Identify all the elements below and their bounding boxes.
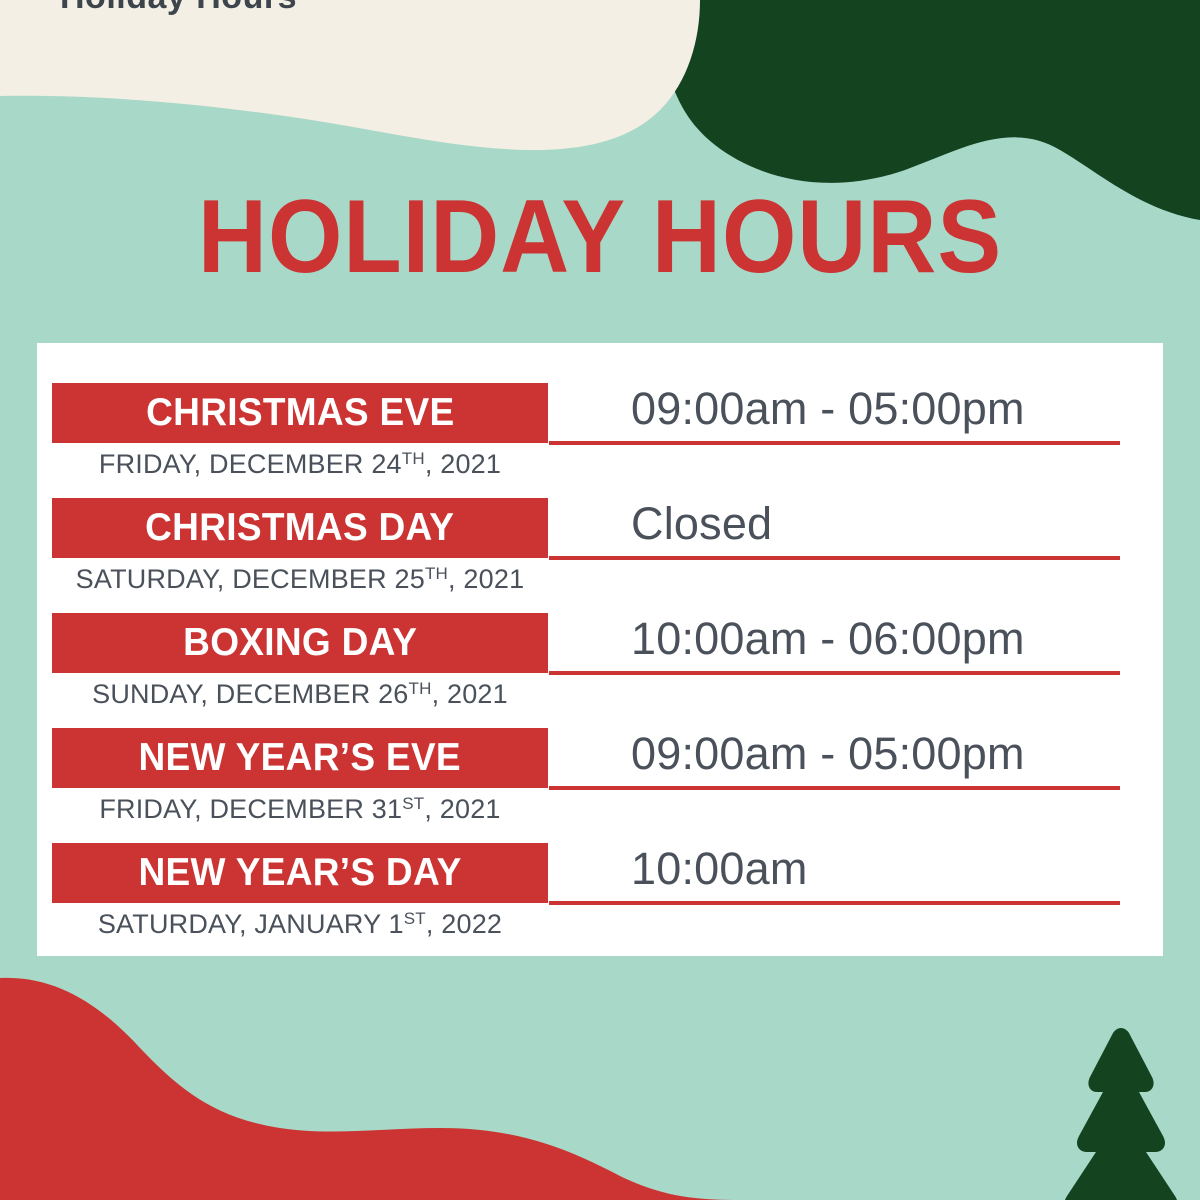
holiday-date-ordinal: TH [425,564,448,583]
row-divider [549,441,1120,445]
holiday-hours: 10:00am - 06:00pm [631,605,1143,673]
holiday-hours: 10:00am [631,835,1143,903]
holiday-date-ordinal: TH [409,679,432,698]
page-title: HOLIDAY HOURS [48,181,1152,293]
holiday-date-day: FRIDAY, DECEMBER 31 [99,794,402,824]
table-row: NEW YEAR’S DAY SATURDAY, JANUARY 1ST, 20… [37,835,1163,949]
holiday-date-year: , 2021 [425,449,501,479]
holiday-date-day: SUNDAY, DECEMBER 26 [92,679,408,709]
holiday-name-band: BOXING DAY [52,613,548,673]
row-divider [549,556,1120,560]
holiday-date-ordinal: ST [404,909,426,928]
holiday-name: NEW YEAR’S EVE [139,738,461,778]
holiday-date-year: , 2021 [448,564,524,594]
holiday-date: SATURDAY, DECEMBER 25TH, 2021 [52,562,548,596]
holiday-date: SATURDAY, JANUARY 1ST, 2022 [52,907,548,941]
row-divider [549,901,1120,905]
table-row: BOXING DAY SUNDAY, DECEMBER 26TH, 2021 1… [37,605,1163,719]
holiday-hours: 09:00am - 05:00pm [631,720,1143,788]
holiday-name: CHRISTMAS EVE [146,393,454,433]
schedule-rows: CHRISTMAS EVE FRIDAY, DECEMBER 24TH, 202… [37,343,1163,956]
holiday-name: CHRISTMAS DAY [145,508,454,548]
holiday-date-ordinal: TH [402,449,425,468]
holiday-name-band: CHRISTMAS EVE [52,383,548,443]
holiday-date: SUNDAY, DECEMBER 26TH, 2021 [52,677,548,711]
holiday-date: FRIDAY, DECEMBER 31ST, 2021 [52,792,548,826]
holiday-name-band: CHRISTMAS DAY [52,498,548,558]
holiday-name: NEW YEAR’S DAY [138,853,461,893]
table-row: CHRISTMAS DAY SATURDAY, DECEMBER 25TH, 2… [37,490,1163,604]
table-row: NEW YEAR’S EVE FRIDAY, DECEMBER 31ST, 20… [37,720,1163,834]
row-divider [549,786,1120,790]
cropped-top-text: Holiday Hours [60,0,297,17]
row-divider [549,671,1120,675]
holiday-hours: Closed [631,490,1143,558]
holiday-date-year: , 2022 [426,909,502,939]
holiday-date-day: SATURDAY, JANUARY 1 [98,909,404,939]
schedule-card: CHRISTMAS EVE FRIDAY, DECEMBER 24TH, 202… [37,343,1163,956]
holiday-date: FRIDAY, DECEMBER 24TH, 2021 [52,447,548,481]
holiday-date-day: FRIDAY, DECEMBER 24 [99,449,402,479]
holiday-date-year: , 2021 [424,794,500,824]
holiday-date-ordinal: ST [402,794,424,813]
holiday-name-band: NEW YEAR’S EVE [52,728,548,788]
holiday-date-year: , 2021 [432,679,508,709]
table-row: CHRISTMAS EVE FRIDAY, DECEMBER 24TH, 202… [37,375,1163,489]
holiday-name: BOXING DAY [183,623,417,663]
holiday-hours-poster: Holiday Hours HOLIDAY HOURS CHRISTMAS EV… [0,0,1200,1200]
holiday-date-day: SATURDAY, DECEMBER 25 [76,564,425,594]
holiday-hours: 09:00am - 05:00pm [631,375,1143,443]
holiday-name-band: NEW YEAR’S DAY [52,843,548,903]
